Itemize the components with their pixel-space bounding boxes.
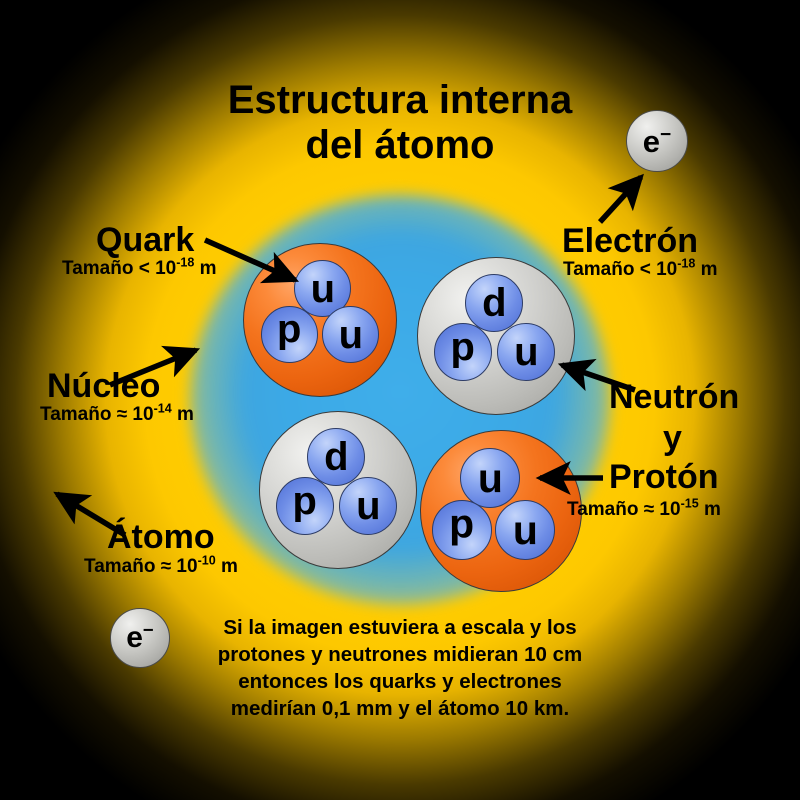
electron-charge: − xyxy=(143,619,154,640)
atom-structure-diagram: Estructura interna del átomo u d u d d u… xyxy=(0,0,800,800)
quark-u: u xyxy=(339,477,397,535)
nucleon-proton-bottom-right: u d u xyxy=(420,430,582,592)
nucleon-neutron-bottom-left: d d u xyxy=(259,411,417,569)
label-neutron-title: Neutrón xyxy=(609,378,739,417)
label-neutron-proton-size: Tamaño ≈ 10-15 m xyxy=(567,499,721,521)
label-nucleus-title: Núcleo xyxy=(47,367,160,406)
quark-u: u xyxy=(495,500,555,560)
electron-size-unit: m xyxy=(695,259,717,280)
quark-size-prefix: Tamaño < 10 xyxy=(62,258,176,279)
electron-charge: − xyxy=(660,124,671,145)
electron-letter: e xyxy=(643,124,660,159)
quark-u: u xyxy=(460,448,520,508)
label-atom-size: Tamaño ≈ 10-10 m xyxy=(84,556,238,578)
electron-size-prefix: Tamaño < 10 xyxy=(563,259,677,280)
nucleus-size-exponent: -14 xyxy=(154,402,172,416)
quark-d: d xyxy=(434,323,492,381)
scale-caption: Si la imagen estuviera a escala y los pr… xyxy=(160,614,640,722)
quark-d: d xyxy=(276,477,334,535)
nucleus-size-prefix: Tamaño ≈ 10 xyxy=(40,404,154,425)
label-quark-title: Quark xyxy=(96,221,194,260)
label-proton-title: Protón xyxy=(609,458,719,497)
quark-size-exponent: -18 xyxy=(176,256,194,270)
nucleon-size-unit: m xyxy=(699,499,721,520)
quark-d: d xyxy=(465,274,523,332)
label-nucleus-size: Tamaño ≈ 10-14 m xyxy=(40,404,194,426)
nucleus-size-unit: m xyxy=(172,404,194,425)
nucleon-size-prefix: Tamaño ≈ 10 xyxy=(567,499,681,520)
atom-size-exponent: -10 xyxy=(198,554,216,568)
quark-size-unit: m xyxy=(194,258,216,279)
atom-size-unit: m xyxy=(216,556,238,577)
quark-d: d xyxy=(307,428,365,486)
quark-u: u xyxy=(322,306,379,363)
electron-upper-right: e− xyxy=(626,110,688,172)
electron-symbol: e− xyxy=(126,623,154,653)
label-atom-title: Átomo xyxy=(107,518,215,557)
electron-symbol: e− xyxy=(643,126,671,157)
electron-letter: e xyxy=(126,621,143,654)
label-electron-size: Tamaño < 10-18 m xyxy=(563,259,718,281)
quark-d: d xyxy=(432,500,492,560)
nucleon-size-exponent: -15 xyxy=(681,497,699,511)
atom-size-prefix: Tamaño ≈ 10 xyxy=(84,556,198,577)
label-conjunction: y xyxy=(663,419,682,458)
quark-d: d xyxy=(261,306,318,363)
quark-u: u xyxy=(497,323,555,381)
label-electron-title: Electrón xyxy=(562,222,698,261)
electron-size-exponent: -18 xyxy=(677,257,695,271)
label-quark-size: Tamaño < 10-18 m xyxy=(62,258,217,280)
nucleon-proton-top-left: u d u xyxy=(243,243,397,397)
nucleon-neutron-top-right: d d u xyxy=(417,257,575,415)
